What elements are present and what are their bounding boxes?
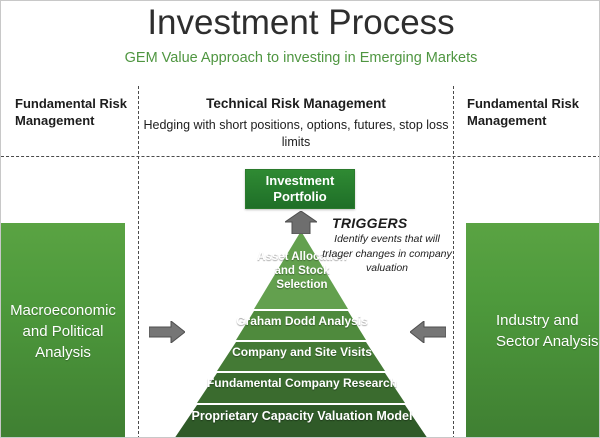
- pyramid-tier-2: [236, 311, 366, 340]
- arrow-up-icon: [285, 211, 317, 234]
- pyramid-tier-4: [197, 373, 405, 403]
- investment-portfolio-box: Investment Portfolio: [245, 169, 355, 209]
- pyramid-tier-3: [217, 342, 385, 371]
- technical-risk-management-title: Technical Risk Management: [141, 95, 451, 113]
- arrow-left-icon: [410, 321, 446, 343]
- pyramid-tier-5: [174, 405, 428, 438]
- triggers-label: TRIGGERS: [332, 215, 408, 231]
- investment-process-diagram: Investment Process GEM Value Approach to…: [0, 0, 600, 438]
- horizontal-divider: [1, 156, 600, 157]
- technical-risk-management-panel: Technical Risk Management Hedging with s…: [141, 95, 451, 151]
- arrow-right-icon: [149, 321, 185, 343]
- vertical-divider-left: [138, 86, 139, 438]
- fundamental-risk-management-left: Fundamental Risk Management: [15, 95, 130, 129]
- fundamental-risk-management-right: Fundamental Risk Management: [467, 95, 587, 129]
- vertical-divider-right: [453, 86, 454, 438]
- triggers-description: Identify events that will trIager change…: [321, 232, 453, 276]
- technical-risk-management-subtitle: Hedging with short positions, options, f…: [141, 117, 451, 151]
